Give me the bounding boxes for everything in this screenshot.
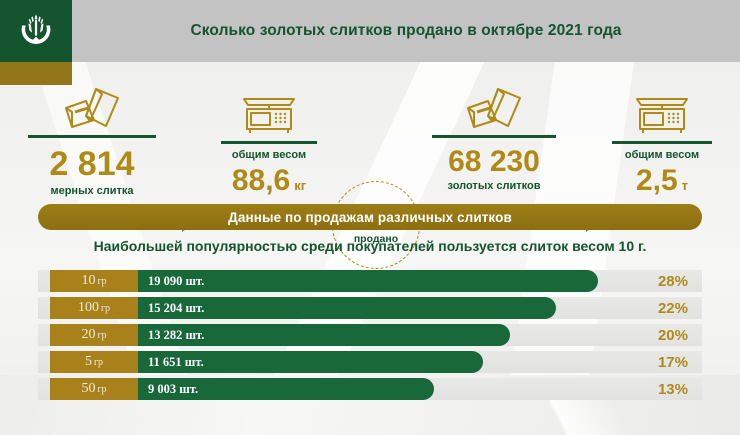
stat-ingots-count: 2 814 мерных слитка [22, 85, 162, 198]
bar-weight-label: 5гр [50, 351, 138, 373]
section-banner: Данные по продажам различных слитков [38, 204, 702, 230]
weight-number: 100 [78, 300, 99, 316]
stat-divider [612, 141, 712, 144]
weight-unit: гр [97, 330, 106, 341]
stat-value: 68 230 [424, 147, 564, 177]
bar-weight-label: 20гр [50, 324, 138, 346]
weight-number: 5 [85, 354, 92, 370]
stat-total-weight: общим весом 88,6 кг [216, 91, 322, 196]
stat-caption: общим весом [606, 149, 718, 162]
bar-weight-label: 100гр [50, 297, 138, 319]
stat-value: 2 814 [22, 147, 162, 181]
logo-gold-strip [0, 62, 72, 85]
stat-unit: т [682, 178, 688, 193]
stat-caption: золотых слитков [424, 180, 564, 193]
bar-value-label: 15 204 шт. [148, 297, 204, 319]
summary-stats: 2 814 мерных слитка [0, 85, 740, 195]
stat-unit: кг [294, 178, 306, 193]
weight-unit: гр [97, 384, 106, 395]
bar-percent-label: 28% [658, 270, 688, 292]
weight-number: 50 [81, 381, 95, 397]
bar-weight-label: 50гр [50, 378, 138, 400]
bar-percent-label: 22% [658, 297, 688, 319]
weight-number: 10 [81, 273, 95, 289]
weight-unit: гр [97, 276, 106, 287]
stat-bars-count: 68 230 золотых слитков [424, 85, 564, 193]
stat-value: 88,6 [232, 166, 290, 196]
bar-fill [138, 270, 598, 292]
scales-icon [606, 91, 718, 136]
bar-percent-label: 20% [658, 324, 688, 346]
bar-value-label: 19 090 шт. [148, 270, 204, 292]
chart-row: 50гр9 003 шт.13% [38, 378, 702, 400]
bar-value-label: 9 003 шт. [148, 378, 198, 400]
bar-value-label: 11 651 шт. [148, 351, 204, 373]
gold-bars-icon [424, 85, 564, 130]
stat-caption: мерных слитка [22, 185, 162, 198]
page-title: Сколько золотых слитков продано в октябр… [72, 0, 740, 62]
weight-number: 20 [81, 327, 95, 343]
national-emblem-icon [18, 12, 54, 50]
logo-block [0, 0, 72, 62]
weight-unit: гр [94, 357, 103, 368]
bar-percent-label: 17% [658, 351, 688, 373]
stat-caption: общим весом [216, 149, 322, 162]
infographic-root: Сколько золотых слитков продано в октябр… [0, 0, 740, 435]
stat-divider [432, 135, 556, 138]
weight-unit: гр [101, 303, 110, 314]
chart-row: 10гр19 090 шт.28% [38, 270, 702, 292]
stat-value: 2,5 [636, 166, 678, 196]
scales-icon [216, 91, 322, 136]
sales-bar-chart: 10гр19 090 шт.28%100гр15 204 шт.22%20гр1… [38, 270, 702, 405]
chart-row: 100гр15 204 шт.22% [38, 297, 702, 319]
stat-divider [221, 141, 317, 144]
chart-row: 20гр13 282 шт.20% [38, 324, 702, 346]
bar-percent-label: 13% [658, 378, 688, 400]
bar-value-label: 13 282 шт. [148, 324, 204, 346]
stat-total-weight-tons: общим весом 2,5 т [606, 91, 718, 196]
chart-row: 5гр11 651 шт.17% [38, 351, 702, 373]
section-subnote: Наибольшей популярностью среди покупател… [0, 238, 740, 254]
bar-weight-label: 10гр [50, 270, 138, 292]
stat-divider [28, 135, 156, 138]
gold-bars-icon [22, 85, 162, 130]
